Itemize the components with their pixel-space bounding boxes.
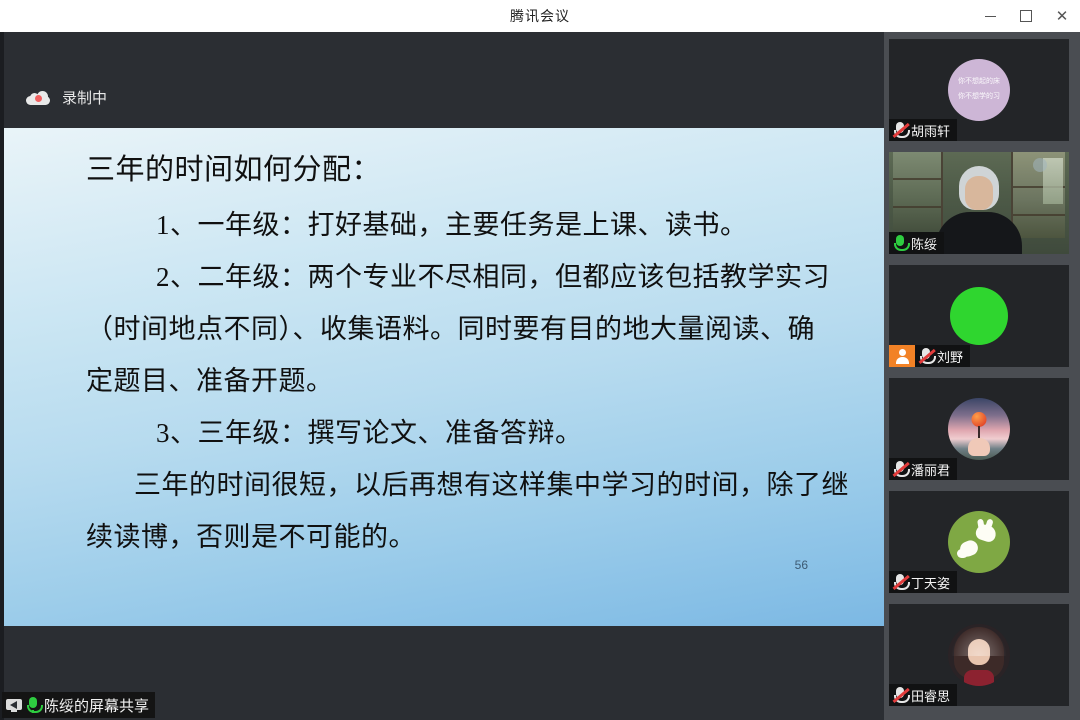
participant-tile-tianruisi[interactable]: 田睿思 bbox=[889, 604, 1069, 706]
window-title: 腾讯会议 bbox=[510, 6, 570, 26]
recording-indicator: 录制中 bbox=[26, 87, 107, 108]
mic-muted-icon bbox=[919, 348, 934, 364]
video-corner-badge bbox=[1033, 158, 1047, 172]
participant-nametag: 潘丽君 bbox=[889, 458, 957, 480]
participant-tile-huyuxuan[interactable]: 你不想起的床 你不想学的习 胡雨轩 bbox=[889, 39, 1069, 141]
avatar-text-line-1: 你不想起的床 bbox=[958, 78, 1000, 87]
close-icon: ✕ bbox=[1056, 9, 1069, 24]
participant-tile-chensui[interactable]: 陈绥 bbox=[889, 152, 1069, 254]
minimize-icon bbox=[985, 16, 996, 17]
avatar bbox=[948, 511, 1010, 573]
maximize-button[interactable] bbox=[1008, 0, 1044, 32]
participant-tile-panlijun[interactable]: 潘丽君 bbox=[889, 378, 1069, 480]
participant-name: 胡雨轩 bbox=[911, 121, 950, 140]
minimize-button[interactable] bbox=[972, 0, 1008, 32]
mic-muted-icon bbox=[893, 461, 908, 477]
avatar bbox=[950, 287, 1008, 345]
maximize-icon bbox=[1020, 10, 1032, 22]
avatar-text-line-2: 你不想学的习 bbox=[958, 93, 1000, 102]
mic-muted-icon bbox=[893, 122, 908, 138]
slide-item-2-a: 2、二年级：两个专业不尽相同，但都应该包括教学实习 bbox=[156, 264, 830, 291]
participant-nametag: 胡雨轩 bbox=[889, 119, 957, 141]
mic-muted-icon bbox=[893, 687, 908, 703]
participant-nametag: 陈绥 bbox=[889, 232, 944, 254]
screen-share-label: 陈绥的屏幕共享 bbox=[2, 692, 155, 718]
mic-on-icon bbox=[26, 697, 40, 713]
screen-share-icon bbox=[6, 699, 22, 712]
avatar bbox=[948, 624, 1010, 686]
participant-nametag: 刘野 bbox=[915, 345, 970, 367]
close-button[interactable]: ✕ bbox=[1044, 0, 1080, 32]
presentation-slide[interactable]: 三年的时间如何分配： 1、一年级：打好基础，主要任务是上课、读书。 2、二年级：… bbox=[4, 128, 884, 626]
slide-closing-a: 三年的时间很短，以后再想有这样集中学习的时间，除了继 bbox=[134, 472, 849, 499]
slide-title-line: 三年的时间如何分配： bbox=[86, 156, 381, 185]
cloud-recording-icon bbox=[26, 91, 50, 105]
mic-muted-icon bbox=[893, 574, 908, 590]
recording-label: 录制中 bbox=[62, 87, 107, 108]
participant-name: 丁天姿 bbox=[911, 573, 950, 592]
slide-item-3: 3、三年级：撰写论文、准备答辩。 bbox=[156, 420, 583, 447]
participant-tile-liuye[interactable]: 刘野 bbox=[889, 265, 1069, 367]
mic-unmuted-icon bbox=[893, 235, 908, 251]
participant-name: 潘丽君 bbox=[911, 460, 950, 479]
participant-tile-dingtianzi[interactable]: 丁天姿 bbox=[889, 491, 1069, 593]
slide-page-number: 56 bbox=[795, 558, 808, 572]
slide-content: 三年的时间如何分配： 1、一年级：打好基础，主要任务是上课、读书。 2、二年级：… bbox=[4, 128, 884, 626]
window-controls: ✕ bbox=[972, 0, 1080, 32]
slide-item-1: 1、一年级：打好基础，主要任务是上课、读书。 bbox=[156, 212, 748, 239]
avatar: 你不想起的床 你不想学的习 bbox=[948, 59, 1010, 121]
participant-name: 陈绥 bbox=[911, 234, 937, 253]
window-titlebar: 腾讯会议 ✕ bbox=[0, 0, 1080, 32]
participant-nametag: 丁天姿 bbox=[889, 571, 957, 593]
slide-item-2-b: （时间地点不同）、收集语料。同时要有目的地大量阅读、确 bbox=[86, 316, 815, 343]
screen-share-owner: 陈绥的屏幕共享 bbox=[44, 695, 149, 716]
slide-item-2-c: 定题目、准备开题。 bbox=[86, 368, 334, 395]
participant-panel[interactable]: 你不想起的床 你不想学的习 胡雨轩 bbox=[884, 32, 1080, 720]
slide-closing-b: 续读博，否则是不可能的。 bbox=[86, 524, 416, 551]
participant-name: 刘野 bbox=[937, 347, 963, 366]
participant-nametag: 田睿思 bbox=[889, 684, 957, 706]
participant-name: 田睿思 bbox=[911, 686, 950, 705]
avatar bbox=[948, 398, 1010, 460]
host-badge bbox=[889, 345, 915, 367]
shared-screen-stage[interactable]: 录制中 三年的时间如何分配： 1、一年级：打好基础，主要任务是上课、读书。 2、… bbox=[0, 32, 884, 720]
